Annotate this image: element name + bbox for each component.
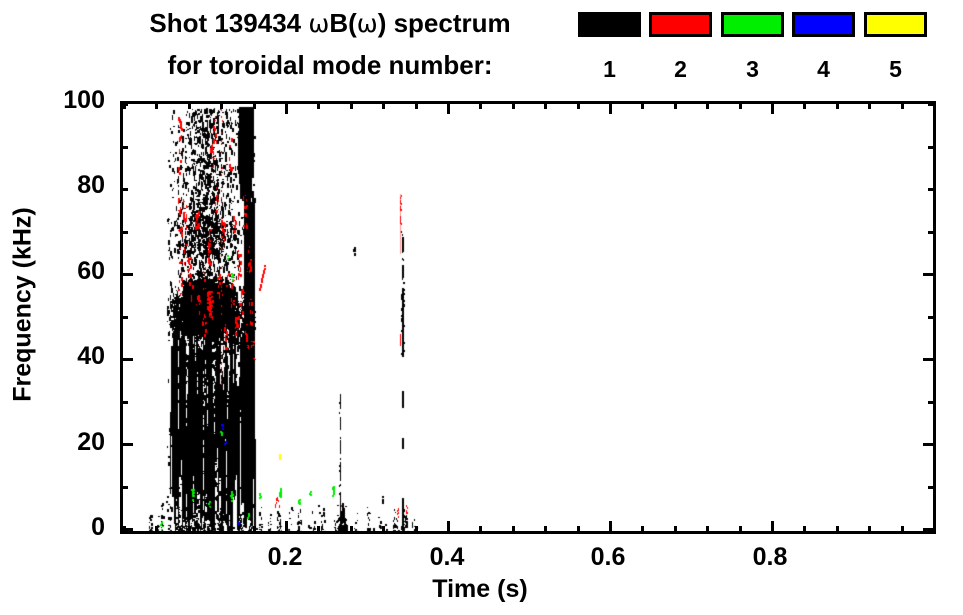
axis-tick (868, 526, 871, 534)
axis-tick (901, 101, 904, 109)
y-tick-label-20: 20 (45, 430, 105, 455)
y-tick-label-100: 100 (45, 88, 105, 113)
axis-tick (739, 101, 742, 109)
x-tick-label-0p6: 0.6 (568, 545, 648, 570)
axis-tick (120, 401, 128, 404)
axis-tick (382, 526, 385, 534)
legend-label-3: 3 (721, 56, 784, 83)
axis-tick (350, 526, 353, 534)
legend-label-5: 5 (864, 56, 927, 83)
axis-tick (120, 528, 133, 531)
axis-tick (155, 101, 158, 109)
y-tick-label-0: 0 (45, 515, 105, 540)
axis-tick (609, 101, 612, 114)
axis-tick (923, 358, 936, 361)
title-spectrum-text: ) spectrum (378, 8, 511, 38)
axis-tick (447, 521, 450, 534)
axis-tick (544, 526, 547, 534)
axis-tick (285, 101, 288, 114)
plot-area (120, 101, 936, 534)
x-tick-label-0p8: 0.8 (730, 545, 810, 570)
axis-tick (120, 231, 128, 234)
axis-tick (836, 101, 839, 109)
omega-symbol-2: ω (357, 9, 378, 38)
x-tick-label-0p4: 0.4 (407, 545, 487, 570)
axis-tick (120, 273, 133, 276)
title-shot-text: Shot 139434 (149, 8, 308, 38)
axis-tick (188, 101, 191, 109)
axis-tick (285, 521, 288, 534)
axis-tick (120, 146, 128, 149)
y-axis-title: Frequency (kHz) (9, 175, 38, 435)
axis-tick (771, 101, 774, 114)
title-b-text: B( (329, 8, 356, 38)
legend-swatch-4[interactable] (792, 12, 855, 37)
axis-tick (836, 526, 839, 534)
x-axis-title: Time (s) (330, 575, 630, 604)
chart-title-line-2: for toroidal mode number: (95, 50, 565, 81)
axis-tick (928, 316, 936, 319)
legend-swatch-3[interactable] (721, 12, 784, 37)
axis-tick (674, 526, 677, 534)
axis-tick (641, 101, 644, 109)
axis-tick (253, 101, 256, 109)
axis-tick (512, 101, 515, 109)
axis-tick (415, 101, 418, 109)
axis-tick (928, 231, 936, 234)
axis-tick (706, 101, 709, 109)
axis-tick (771, 521, 774, 534)
axis-tick (928, 146, 936, 149)
axis-tick (220, 526, 223, 534)
legend-label-4: 4 (792, 56, 855, 83)
y-tick-label-80: 80 (45, 173, 105, 198)
legend-swatch-2[interactable] (649, 12, 712, 37)
spectrum-figure: Shot 139434 ωB(ω) spectrum for toroidal … (0, 0, 963, 615)
axis-tick (220, 101, 223, 109)
y-tick-label-40: 40 (45, 344, 105, 369)
spectrum-scatter-canvas (123, 104, 936, 534)
axis-tick (577, 526, 580, 534)
axis-tick (923, 528, 936, 531)
axis-tick (155, 526, 158, 534)
axis-tick (120, 103, 128, 106)
axis-tick (739, 526, 742, 534)
axis-tick (901, 526, 904, 534)
axis-tick (512, 526, 515, 534)
axis-tick (577, 101, 580, 109)
axis-tick (928, 401, 936, 404)
axis-tick (803, 526, 806, 534)
axis-tick (928, 103, 936, 106)
legend-swatch-1[interactable] (578, 12, 641, 37)
axis-tick (382, 101, 385, 109)
axis-tick (928, 188, 936, 191)
legend: 1 2 3 4 5 (578, 12, 948, 90)
axis-tick (803, 101, 806, 109)
legend-label-1: 1 (578, 56, 641, 83)
axis-tick (120, 358, 133, 361)
axis-tick (868, 101, 871, 109)
axis-tick (706, 526, 709, 534)
legend-label-2: 2 (649, 56, 712, 83)
axis-tick (641, 526, 644, 534)
axis-tick (923, 443, 936, 446)
legend-swatch-5[interactable] (864, 12, 927, 37)
axis-tick (253, 526, 256, 534)
axis-tick (317, 101, 320, 109)
axis-tick (479, 526, 482, 534)
axis-tick (415, 526, 418, 534)
axis-tick (120, 188, 128, 191)
axis-tick (928, 486, 936, 489)
axis-tick (350, 101, 353, 109)
chart-title-line-1: Shot 139434 ωB(ω) spectrum (95, 8, 565, 39)
axis-tick (544, 101, 547, 109)
axis-tick (120, 316, 128, 319)
axis-tick (923, 273, 936, 276)
axis-tick (317, 526, 320, 534)
axis-tick (674, 101, 677, 109)
axis-tick (609, 521, 612, 534)
axis-tick (120, 443, 133, 446)
axis-tick (447, 101, 450, 114)
axis-tick (188, 526, 191, 534)
omega-symbol-1: ω (308, 9, 329, 38)
y-tick-label-60: 60 (45, 259, 105, 284)
axis-tick (120, 486, 128, 489)
axis-tick (479, 101, 482, 109)
x-tick-label-0p2: 0.2 (245, 545, 325, 570)
